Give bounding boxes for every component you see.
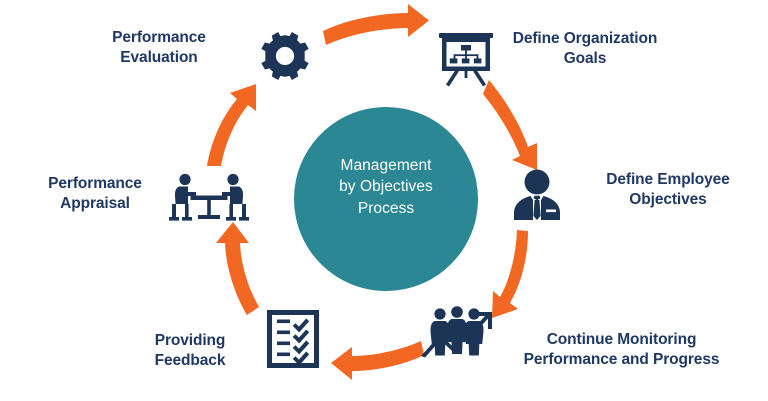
checklist-clipboard-icon [267, 310, 319, 368]
arrow-monitoring-to-feedback [331, 341, 424, 380]
step-label-performance-appraisal: Performance Appraisal [24, 174, 166, 215]
step-label-providing-feedback: Providing Feedback [123, 331, 257, 372]
step-label-define-organization-goals: Define Organization Goals [489, 29, 681, 70]
arrow-evaluation-to-goals [323, 4, 429, 45]
center-circle-label: Management by Objectives Process [310, 155, 462, 219]
arrow-feedback-to-appraisal [216, 222, 259, 315]
presentation-board-org-chart-icon [439, 33, 493, 86]
step-label-performance-evaluation: Performance Evaluation [88, 28, 230, 69]
people-growth-chart-icon [421, 306, 492, 357]
step-label-define-employee-objectives: Define Employee Objectives [575, 170, 761, 211]
arrow-goals-to-employee-objectives [483, 80, 537, 170]
step-label-continue-monitoring-performance-and-progress: Continue Monitoring Performance and Prog… [509, 330, 734, 371]
arrow-appraisal-to-evaluation [207, 84, 256, 166]
arrow-employee-objectives-to-monitoring [492, 230, 528, 318]
gear-icon [261, 32, 308, 80]
meeting-table-two-people-icon [169, 174, 249, 221]
businessperson-icon [514, 170, 560, 221]
diagram-canvas: Management by Objectives Process Define … [0, 0, 768, 401]
